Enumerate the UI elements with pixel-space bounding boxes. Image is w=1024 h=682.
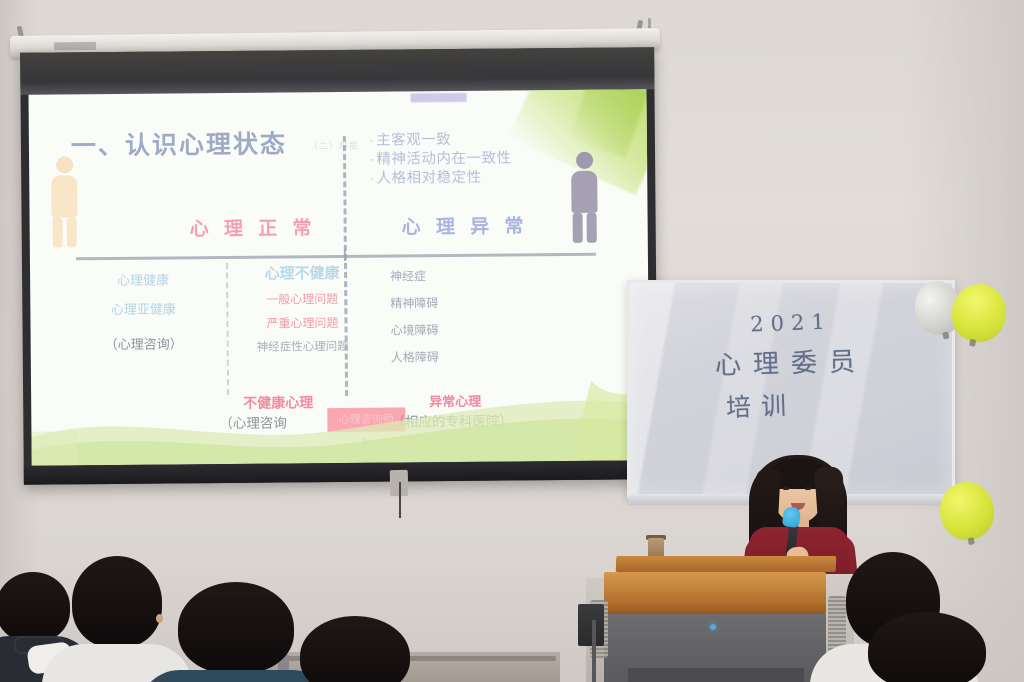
whiteboard-line-2: 心理委员 [630, 339, 953, 384]
lecture-hall-photo: 一、认识心理状态 （二）根据 主客观一致 精神活动内在一致性 人格相对稳定性 心… [0, 0, 1024, 682]
column-middle-item-3: 神经症性心理问题 [233, 338, 373, 355]
column-right-item-4: 人格障碍 [391, 347, 541, 365]
projector-screen: 一、认识心理状态 （二）根据 主客观一致 精神活动内在一致性 人格相对稳定性 心… [20, 47, 658, 485]
podium-top-surface [616, 556, 837, 572]
column-left-note: （心理咨询） [79, 333, 209, 353]
podium-power-indicator-icon [710, 624, 716, 630]
person-figure-light-icon [51, 156, 78, 247]
slide-bullet-3: 人格相对稳定性 [369, 169, 512, 189]
audience-head-4 [300, 616, 444, 682]
slide-canvas: 一、认识心理状态 （二）根据 主客观一致 精神活动内在一致性 人格相对稳定性 心… [28, 89, 649, 465]
whiteboard-line-1: 2021 [630, 305, 953, 340]
screen-pull-cord [399, 482, 401, 518]
audience-head-2 [72, 556, 192, 682]
slide-bullet-2: 精神活动内在一致性 [369, 150, 512, 170]
podium-lower-shelf [628, 668, 804, 682]
whiteboard-handwriting: 2021 心理委员 培训 [630, 311, 952, 422]
podium-wood-panel [604, 572, 826, 614]
microphone-head-icon [782, 506, 801, 528]
slide-column-right: 神经症 精神障碍 心境障碍 人格障碍 [390, 266, 541, 370]
slide-decoration-waves [31, 370, 650, 465]
label-psychologically-abnormal: 心 理 异 常 [402, 211, 529, 239]
slide-axis-line [76, 253, 596, 261]
roller-brand-label [54, 42, 96, 51]
whiteboard-line-3: 培训 [629, 380, 952, 427]
column-right-item-1: 神经症 [390, 266, 540, 284]
slide-bullet-list: 主客观一致 精神活动内在一致性 人格相对稳定性 [369, 130, 512, 189]
av-equipment-stand [592, 620, 596, 682]
column-middle-item-2: 严重心理问题 [232, 314, 372, 332]
av-equipment-box [578, 604, 604, 646]
person-figure-gray-icon [571, 152, 598, 243]
column-left-item-1: 心理健康 [78, 269, 208, 289]
column-right-item-3: 心境障碍 [390, 320, 540, 338]
column-right-item-2: 精神障碍 [390, 293, 540, 311]
column-middle-heading: 心理不健康 [232, 262, 372, 284]
column-middle-item-1: 一般心理问题 [232, 290, 372, 308]
slide-column-left: 心理健康 心理亚健康 （心理咨询） [78, 269, 209, 358]
slide-column-middle: 心理不健康 一般心理问题 严重心理问题 神经症性心理问题 [232, 262, 373, 360]
presenter-eye-left [783, 487, 789, 490]
slide-watermark [410, 93, 466, 102]
audience-head-6 [868, 612, 1012, 682]
column-left-item-2: 心理亚健康 [78, 298, 208, 318]
audience-ear [156, 614, 163, 623]
slide-title: 一、认识心理状态 [71, 124, 287, 162]
label-psychologically-normal: 心 理 正 常 [190, 213, 317, 241]
presenter-eye-right [805, 487, 811, 490]
screen-black-border-top [20, 47, 654, 95]
slide-bullet-1: 主客观一致 [369, 130, 512, 150]
slide-subtag: （二）根据 [309, 139, 359, 152]
